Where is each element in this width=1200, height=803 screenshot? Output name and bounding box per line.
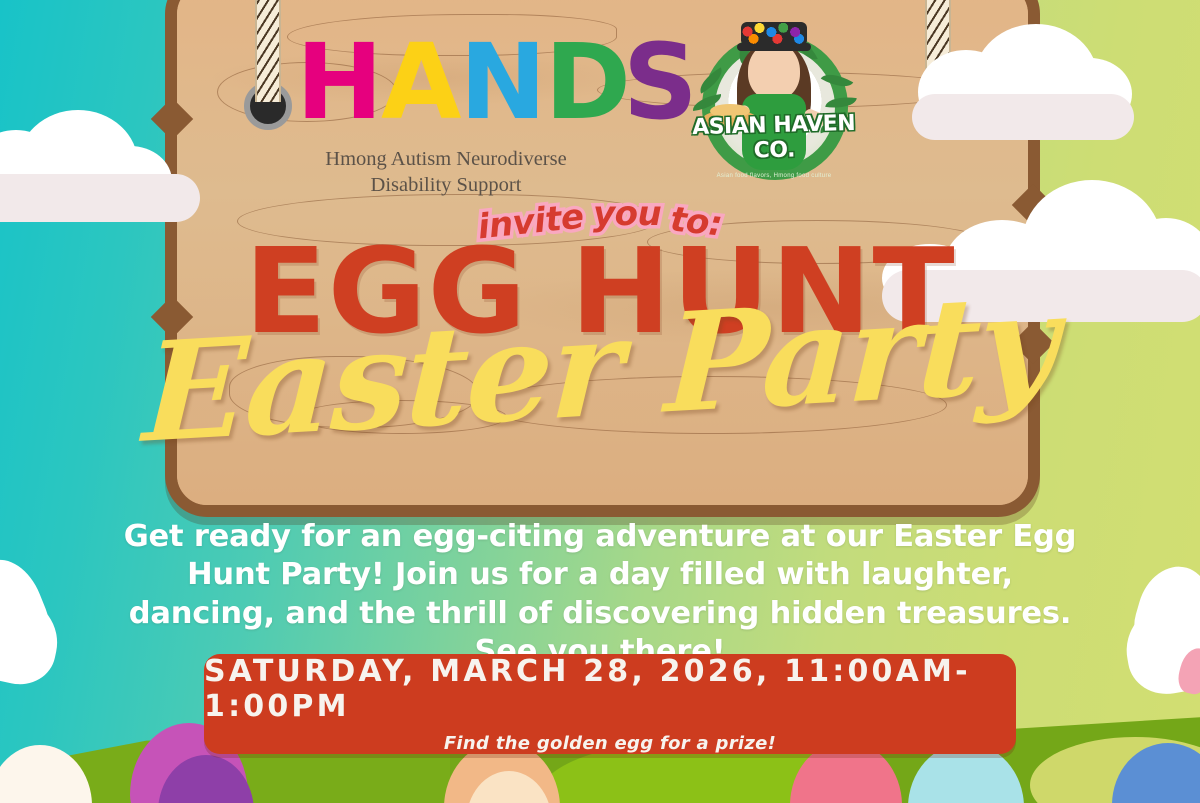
hands-subtitle-line1: Hmong Autism Neurodiverse: [296, 146, 596, 172]
easter-egg-hunt-poster: H A N D S Hmong Autism Neurodiverse Disa…: [0, 0, 1200, 803]
golden-egg-note: Find the golden egg for a prize!: [444, 733, 776, 754]
hands-letter-s: S: [623, 38, 694, 127]
rope-left: [255, 0, 281, 102]
partner-name: ASIAN HAVEN CO.: [687, 111, 860, 165]
hands-letter-a: A: [381, 38, 458, 127]
hands-letter-h: H: [296, 38, 379, 127]
partner-tagline: Asian food flavors, Hmong food culture: [688, 173, 860, 179]
flower-petal: [0, 585, 66, 691]
cloud-top-right: [912, 28, 1142, 138]
hands-letter-d: D: [545, 38, 627, 127]
hands-logo: H A N D S Hmong Autism Neurodiverse Disa…: [296, 38, 596, 198]
hands-subtitle: Hmong Autism Neurodiverse Disability Sup…: [296, 146, 596, 198]
event-description: Get ready for an egg-citing adventure at…: [120, 518, 1080, 672]
hands-acronym: H A N D S: [296, 38, 596, 134]
mascot-hmong-hat: [741, 22, 807, 46]
flower-right: [1084, 560, 1200, 710]
hands-subtitle-line2: Disability Support: [296, 172, 596, 198]
asian-haven-co-logo: ASIAN HAVEN CO. Asian food flavors, Hmon…: [688, 12, 860, 187]
egg-white-left: [0, 745, 92, 803]
hands-letter-n: N: [460, 38, 543, 127]
flower-left: [0, 548, 100, 708]
event-date-time: SATURDAY, MARCH 28, 2026, 11:00AM-1:00PM: [204, 654, 1016, 724]
date-time-banner: SATURDAY, MARCH 28, 2026, 11:00AM-1:00PM…: [204, 654, 1016, 754]
